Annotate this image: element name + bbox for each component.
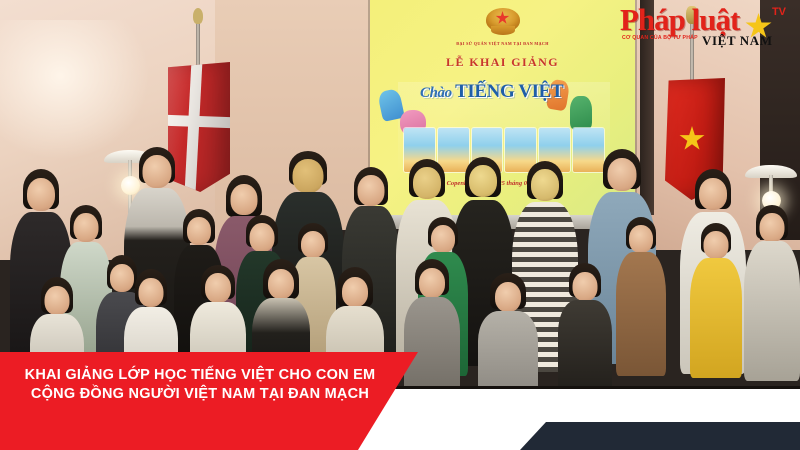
- torso: [404, 297, 460, 389]
- slide-title: LỄ KHAI GIẢNG: [370, 55, 635, 70]
- caption-text: KHAI GIẢNG LỚP HỌC TIẾNG VIỆT CHO CON EM…: [0, 366, 400, 404]
- face: [187, 217, 211, 245]
- face: [27, 178, 55, 211]
- artwork-child-figure: [570, 96, 592, 130]
- vietnam-national-emblem-icon: [484, 8, 522, 38]
- face: [419, 268, 445, 298]
- artwork-script-word: Chào: [420, 85, 452, 101]
- face: [268, 269, 294, 299]
- torso: [478, 311, 538, 389]
- slide-organization: ĐẠI SỨ QUÁN VIỆT NAM TẠI ĐAN MẠCH: [370, 41, 635, 46]
- emblem-gear: [491, 26, 515, 35]
- face: [531, 169, 559, 201]
- brand-logo[interactable]: Pháp luật TV CƠ QUAN CỦA BỘ TƯ PHÁP VIỆT…: [616, 4, 792, 52]
- brand-wordmark: Pháp luật: [616, 4, 792, 35]
- face: [469, 165, 497, 197]
- face: [573, 272, 598, 301]
- face: [45, 286, 70, 315]
- person: [478, 276, 538, 389]
- torso: [690, 258, 742, 378]
- face: [342, 277, 368, 307]
- face: [431, 225, 455, 253]
- face: [699, 178, 727, 210]
- brand-tagline: CƠ QUAN CỦA BỘ TƯ PHÁP: [622, 35, 698, 41]
- group-photo: ĐẠI SỨ QUÁN VIỆT NAM TẠI ĐAN MẠCH LỄ KHA…: [0, 0, 800, 389]
- news-photo-card: ĐẠI SỨ QUÁN VIỆT NAM TẠI ĐAN MẠCH LỄ KHA…: [0, 0, 800, 450]
- artwork-main-word: TIẾNG VIỆT: [455, 81, 563, 102]
- flag-finial-left: [193, 8, 203, 24]
- person: [404, 262, 460, 389]
- caption-line-2: CỘNG ĐỒNG NGƯỜI VIỆT NAM TẠI ĐAN MẠCH: [0, 385, 400, 404]
- face: [143, 155, 172, 188]
- person: [558, 266, 612, 389]
- person: [690, 226, 742, 374]
- brand-country: VIỆT NAM: [702, 33, 773, 49]
- face: [704, 231, 729, 259]
- face: [413, 167, 441, 199]
- flag-pole-left: [196, 20, 200, 70]
- artwork-wordmark: Chào TIẾNG VIỆT: [420, 84, 570, 120]
- face: [293, 159, 324, 193]
- face: [74, 213, 99, 242]
- face: [231, 184, 258, 215]
- bottom-navy-bar: [520, 422, 800, 450]
- face: [250, 223, 275, 252]
- face: [608, 158, 637, 191]
- person: [616, 220, 666, 372]
- torso: [558, 300, 612, 389]
- flag-star-icon: [679, 126, 705, 152]
- torso: [616, 252, 666, 376]
- face: [629, 225, 653, 253]
- face: [139, 278, 164, 307]
- face: [358, 175, 385, 206]
- tv-badge: TV: [772, 6, 786, 18]
- face: [205, 273, 231, 303]
- face: [495, 282, 521, 312]
- caption-line-1: KHAI GIẢNG LỚP HỌC TIẾNG VIỆT CHO CON EM: [0, 366, 400, 385]
- torso: [744, 241, 800, 381]
- face: [760, 213, 785, 242]
- person: [744, 208, 800, 378]
- face: [301, 231, 325, 258]
